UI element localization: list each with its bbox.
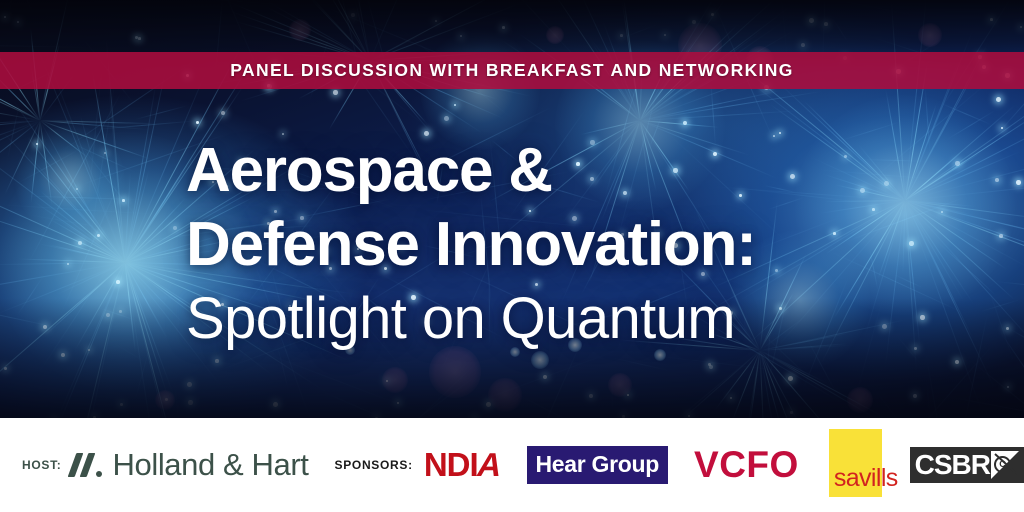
csbr-text: CSBR bbox=[915, 451, 990, 479]
sponsors-label: SPONSORS: bbox=[335, 458, 413, 472]
sponsor-logo-vcfo: VCFO bbox=[694, 444, 799, 486]
title-line-3: Spotlight on Quantum bbox=[186, 290, 966, 348]
host-label: HOST: bbox=[22, 458, 62, 472]
ndia-text: NDI bbox=[424, 446, 478, 484]
event-banner: PANEL DISCUSSION WITH BREAKFAST AND NETW… bbox=[0, 0, 1024, 512]
csbr-circle-mark-icon: C bbox=[991, 451, 1019, 479]
holland-hart-logo-text: Holland & Hart bbox=[113, 447, 309, 483]
host-block: HOST: Holland & Hart bbox=[22, 447, 309, 483]
sponsor-logo-csbr: CSBR C bbox=[910, 447, 1024, 483]
strap-text: PANEL DISCUSSION WITH BREAKFAST AND NETW… bbox=[230, 60, 793, 81]
ndia-slant-a: A bbox=[473, 446, 505, 484]
sponsor-bar: HOST: Holland & Hart SPONSORS: NDIA Hear… bbox=[0, 418, 1024, 512]
csbr-mark-letter: C bbox=[999, 460, 1006, 469]
page-title: Aerospace & Defense Innovation: Spotligh… bbox=[186, 140, 966, 348]
event-type-strap: PANEL DISCUSSION WITH BREAKFAST AND NETW… bbox=[0, 52, 1024, 89]
title-line-2: Defense Innovation: bbox=[186, 214, 966, 276]
hear-group-text: Hear Group bbox=[536, 451, 660, 477]
sponsor-logo-savills: savills bbox=[829, 429, 882, 497]
sponsors-block: SPONSORS: NDIA bbox=[335, 446, 501, 484]
savills-text: savills bbox=[834, 464, 898, 493]
sponsor-logo-hear-group: Hear Group bbox=[527, 446, 669, 484]
title-line-1: Aerospace & bbox=[186, 140, 966, 202]
sponsor-logo-ndia: NDIA bbox=[424, 446, 501, 484]
holland-hart-slash-icon bbox=[72, 452, 106, 478]
